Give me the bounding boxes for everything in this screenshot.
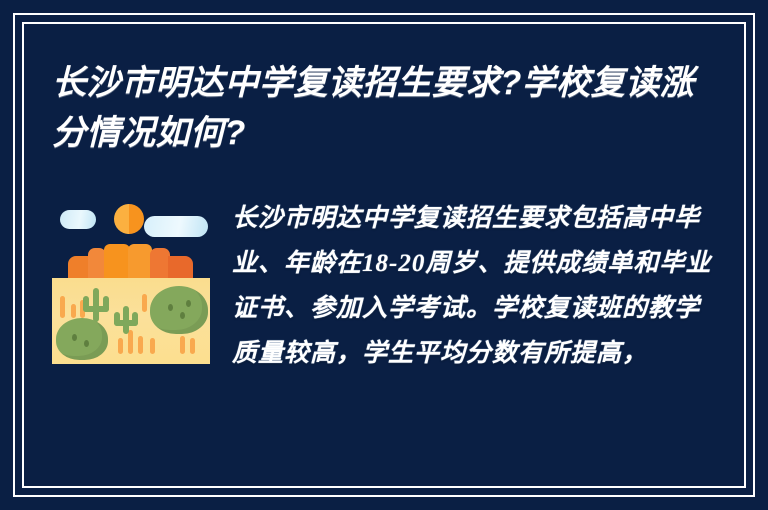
bush-left-icon	[56, 318, 108, 360]
page-title: 长沙市明达中学复读招生要求?学校复读涨分情况如何?	[52, 58, 712, 158]
cactus-large-icon	[83, 288, 109, 322]
sun-icon	[114, 204, 144, 234]
content-row: 长沙市明达中学复读招生要求包括高中毕业、年龄在18-20周岁、提供成绩单和毕业证…	[52, 196, 716, 376]
desert-ground	[52, 278, 210, 364]
body-paragraph: 长沙市明达中学复读招生要求包括高中毕业、年龄在18-20周岁、提供成绩单和毕业证…	[232, 196, 716, 376]
bush-right-icon	[150, 286, 208, 334]
desert-mesa-illustration	[52, 196, 210, 364]
cloud-right-icon	[144, 216, 208, 237]
cactus-small-icon	[114, 306, 138, 334]
poster-canvas: 长沙市明达中学复读招生要求?学校复读涨分情况如何?	[0, 0, 768, 510]
cloud-left-icon	[60, 210, 96, 229]
